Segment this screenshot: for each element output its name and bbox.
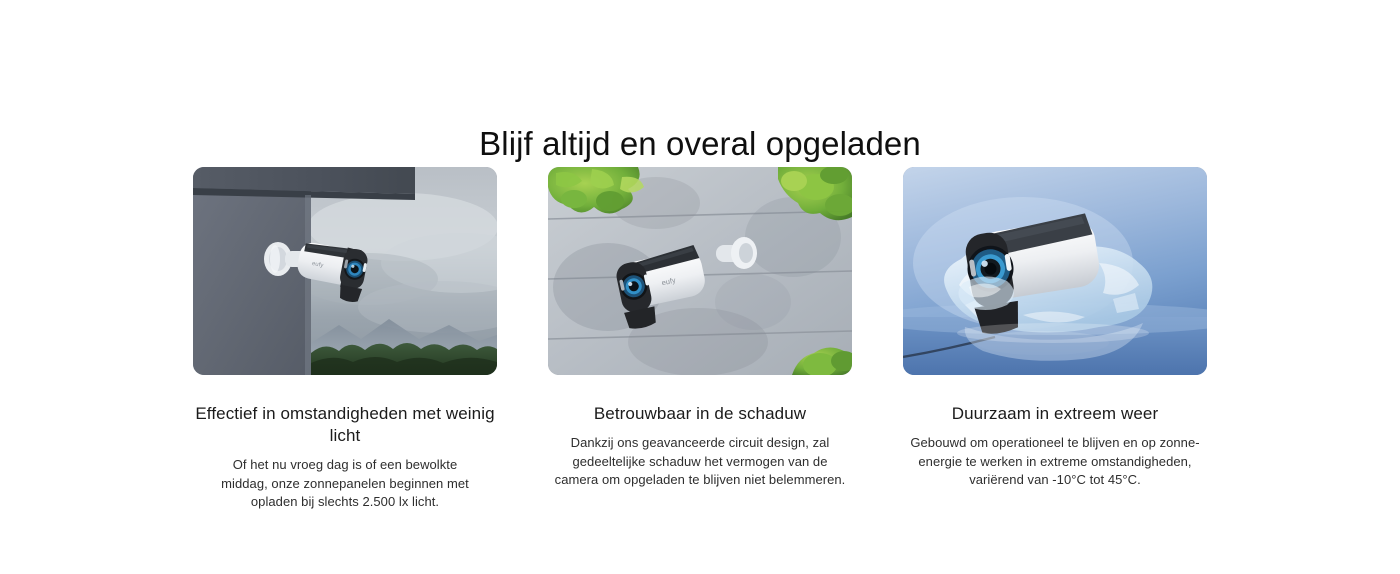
- feature-card-shade: eufy Betrouwbaar in de schaduw Dankzij o…: [548, 167, 852, 512]
- feature-heading: Betrouwbaar in de schaduw: [594, 403, 806, 425]
- page-title: Blijf altijd en overal opgeladen: [0, 123, 1400, 165]
- feature-columns: eufy Effectief in omstandigheden met wei…: [193, 167, 1207, 512]
- feature-heading: Duurzaam in extreem weer: [952, 403, 1158, 425]
- marketing-feature-section: Blijf altijd en overal opgeladen: [0, 0, 1400, 574]
- feature-body: Of het nu vroeg dag is of een bewolkte m…: [211, 456, 479, 512]
- feature-body: Dankzij ons geavanceerde circuit design,…: [550, 434, 850, 490]
- camera-shade-photo: eufy: [548, 167, 852, 375]
- feature-body: Gebouwd om operationeel te blijven en op…: [905, 434, 1205, 490]
- feature-card-extreme-weather: Duurzaam in extreem weer Gebouwd om oper…: [903, 167, 1207, 512]
- camera-low-light-photo: eufy: [193, 167, 497, 375]
- feature-heading: Effectief in omstandigheden met weinig l…: [193, 403, 497, 447]
- camera-extreme-weather-photo: [903, 167, 1207, 375]
- feature-card-low-light: eufy Effectief in omstandigheden met wei…: [193, 167, 497, 512]
